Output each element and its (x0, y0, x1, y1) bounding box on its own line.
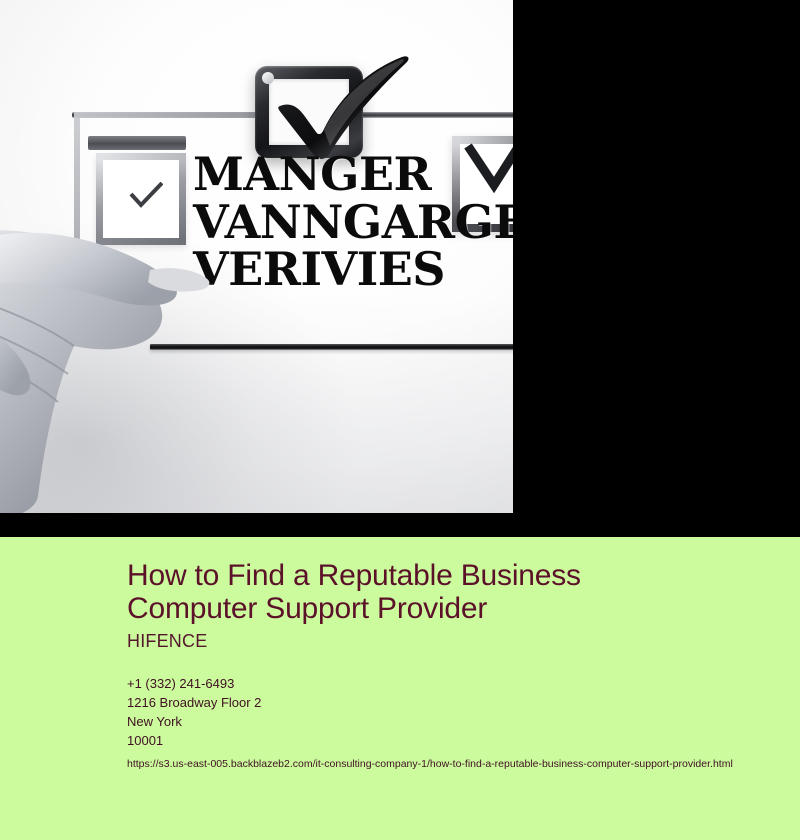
brand-name: HIFENCE (127, 630, 778, 652)
source-url[interactable]: https://s3.us-east-005.backblazeb2.com/i… (127, 757, 778, 771)
content-inner: How to Find a Reputable Business Compute… (127, 559, 778, 771)
hero-photo: MANGER VANNGARGES VERIVIES (0, 0, 513, 513)
contact-street: 1216 Broadway Floor 2 (127, 693, 778, 712)
hero-band: MANGER VANNGARGES VERIVIES (0, 0, 800, 537)
check-mark-icon (129, 182, 163, 208)
checkbox-inner-face (269, 79, 349, 145)
contact-city: New York (127, 712, 778, 731)
content-band: How to Find a Reputable Business Compute… (0, 537, 800, 840)
contact-block: +1 (332) 241-6493 1216 Broadway Floor 2 … (127, 674, 778, 750)
clipboard-rail-right (362, 112, 513, 118)
checkbox-checked-icon (255, 66, 363, 158)
checkbox-empty-icon (96, 153, 186, 245)
photo-word-1: MANGER (193, 152, 513, 198)
photo-word-3: VERIVIES (193, 247, 513, 293)
checkbox-highlight-dot (262, 72, 274, 84)
contact-zip: 10001 (127, 731, 778, 750)
clipboard-bar (88, 136, 186, 150)
photo-headline-text: MANGER VANNGARGES VERIVIES (193, 152, 513, 293)
contact-phone[interactable]: +1 (332) 241-6493 (127, 674, 778, 693)
photo-word-2: VANNGARGES (193, 200, 513, 246)
whiteboard-edge-line (150, 344, 513, 350)
page-root: MANGER VANNGARGES VERIVIES (0, 0, 800, 840)
page-title: How to Find a Reputable Business Compute… (127, 559, 647, 625)
